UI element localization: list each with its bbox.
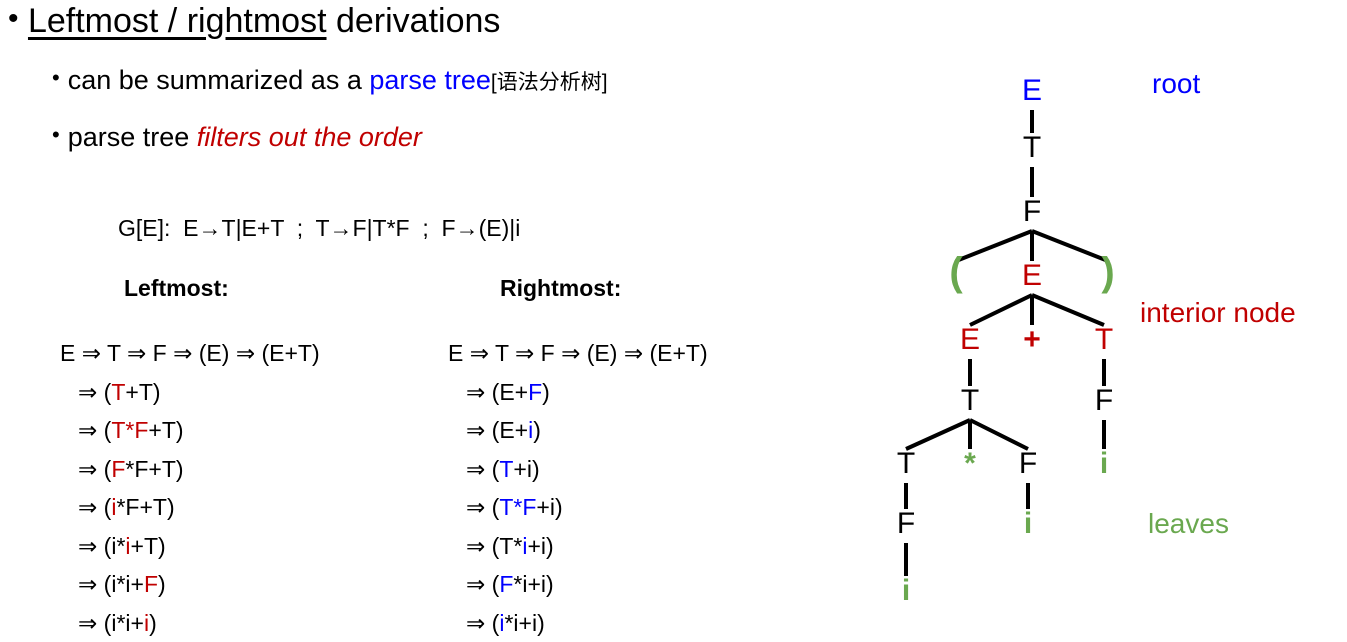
bullet-dot-icon: • [8, 2, 19, 35]
tree-node-label: T [1095, 323, 1113, 356]
tree-node-label: T [961, 384, 979, 417]
derives-arrow-icon: ⇒ [78, 533, 104, 559]
tree-edge [906, 420, 970, 449]
tree-node-label: i [1100, 447, 1108, 480]
derivation-prefix: (E+ [492, 417, 528, 443]
derivation-suffix: +i) [527, 533, 553, 559]
derivation-row: ⇒ (T*F+T) [60, 411, 320, 450]
derivation-highlight: T*F [111, 417, 148, 443]
derivation-row: ⇒ (T+i) [448, 450, 708, 489]
derivation-suffix: *i+i) [504, 610, 544, 636]
derivation-prefix: (i*i+ [104, 571, 144, 597]
derivation-suffix: ) [149, 610, 157, 636]
derivation-prefix: (i*i+ [104, 610, 144, 636]
derivation-suffix: ) [533, 417, 541, 443]
tree-edge [970, 295, 1032, 325]
rightmost-derivation-list: E ⇒ T ⇒ F ⇒ (E) ⇒ (E+T)⇒ (E+F)⇒ (E+i)⇒ (… [448, 334, 708, 642]
derives-arrow-icon: ⇒ [466, 417, 492, 443]
derivation-highlight: T [499, 456, 513, 482]
tree-node-label: T [1023, 131, 1041, 164]
tree-edge [1032, 295, 1104, 325]
tree-node-label: ) [1101, 250, 1114, 294]
tree-node-label: F [897, 507, 915, 540]
sub-bullet-lead-text: parse tree [68, 122, 197, 152]
page-title-rest: derivations [327, 2, 501, 40]
derivation-suffix: +T) [131, 533, 166, 559]
tree-node-label: F [1019, 447, 1037, 480]
derivation-suffix: *F+T) [125, 456, 183, 482]
tree-node-label: F [1023, 195, 1041, 228]
derivation-highlight: F [144, 571, 158, 597]
bullet-dot-icon: • [52, 65, 60, 90]
derivation-row: ⇒ (T*F+i) [448, 488, 708, 527]
derivation-suffix: ) [158, 571, 166, 597]
derivation-suffix: +i) [513, 456, 539, 482]
sub-bullet-lead-text: can be summarized as a [68, 65, 370, 95]
derives-arrow-icon: ⇒ [78, 417, 104, 443]
derives-arrow-icon: ⇒ [466, 610, 492, 636]
tree-node-label: * [964, 447, 976, 480]
emphasis-text: filters out the order [197, 122, 422, 152]
derivation-row: ⇒ (F*F+T) [60, 450, 320, 489]
tree-edge [970, 420, 1028, 449]
derivation-suffix: *i+i) [513, 571, 553, 597]
derives-arrow-icon: ⇒ [466, 533, 492, 559]
derives-arrow-icon: ⇒ [78, 494, 104, 520]
tree-edge [956, 231, 1032, 261]
tree-node-label: + [1023, 323, 1041, 356]
derivation-row: ⇒ (E+i) [448, 411, 708, 450]
derives-arrow-icon: ⇒ [466, 571, 492, 597]
tree-edges [906, 110, 1108, 576]
tree-node-label: ( [949, 250, 963, 294]
derives-arrow-icon: ⇒ [466, 379, 492, 405]
derives-arrow-icon: ⇒ [78, 610, 104, 636]
derivation-suffix: ) [542, 379, 550, 405]
derivation-highlight: F [528, 379, 542, 405]
annotation-leaves: leaves [1148, 508, 1229, 540]
tree-node-label: E [1022, 74, 1042, 107]
tree-edge [1032, 231, 1108, 261]
cjk-gloss: [语法分析树] [491, 71, 608, 94]
derivation-row: ⇒ (E+F) [448, 373, 708, 412]
derivation-row: ⇒ (i*i+i) [60, 604, 320, 642]
derivation-highlight: F [111, 456, 125, 482]
derivation-suffix: +i) [536, 494, 562, 520]
derivation-row: ⇒ (T+T) [60, 373, 320, 412]
page-title-underlined: Leftmost / rightmost [28, 2, 327, 40]
derives-arrow-icon: ⇒ [78, 379, 104, 405]
derivation-row: E ⇒ T ⇒ F ⇒ (E) ⇒ (E+T) [60, 334, 320, 373]
tree-node-label: i [1024, 507, 1032, 540]
derivation-highlight: F [499, 571, 513, 597]
tree-nodes: ETF(E)E+TTFT*FiFii [897, 74, 1115, 607]
derivation-suffix: *F+T) [116, 494, 174, 520]
derivation-prefix: (T* [492, 533, 523, 559]
derivation-highlight: T [111, 379, 125, 405]
derivation-row: E ⇒ T ⇒ F ⇒ (E) ⇒ (E+T) [448, 334, 708, 373]
bullet-dot-icon: • [52, 122, 60, 147]
rightmost-heading: Rightmost: [500, 275, 621, 302]
leftmost-heading: Leftmost: [124, 275, 229, 302]
derivation-row: ⇒ (F*i+i) [448, 565, 708, 604]
derivation-suffix: +T) [148, 417, 183, 443]
derivation-row: ⇒ (i*i+i) [448, 604, 708, 642]
tree-node-label: F [1095, 384, 1113, 417]
parse-tree-diagram: ETF(E)E+TTFT*FiFii [860, 55, 1160, 635]
annotation-root: root [1152, 68, 1200, 100]
tree-node-label: i [902, 574, 910, 607]
sub-bullet-filters-order: •parse tree filters out the order [52, 123, 422, 153]
derivation-highlight: T*F [499, 494, 536, 520]
tree-node-label: E [1022, 259, 1042, 292]
derivation-prefix: (E+ [492, 379, 528, 405]
parse-tree-highlight: parse tree [369, 65, 491, 95]
grammar-definition: G[E]: E→T|E+T ; T→F|T*F ; F→(E)|i [118, 215, 520, 242]
title-bullet-line: • Leftmost / rightmost derivations [8, 2, 500, 40]
derivation-row: ⇒ (i*F+T) [60, 488, 320, 527]
derives-arrow-icon: ⇒ [466, 494, 492, 520]
derivation-suffix: +T) [125, 379, 160, 405]
derivation-prefix: (i* [104, 533, 126, 559]
tree-node-label: T [897, 447, 915, 480]
derivation-row: ⇒ (i*i+T) [60, 527, 320, 566]
derives-arrow-icon: ⇒ [78, 456, 104, 482]
derives-arrow-icon: ⇒ [466, 456, 492, 482]
derivation-row: ⇒ (T*i+i) [448, 527, 708, 566]
leftmost-derivation-list: E ⇒ T ⇒ F ⇒ (E) ⇒ (E+T)⇒ (T+T)⇒ (T*F+T)⇒… [60, 334, 320, 642]
derivation-row: ⇒ (i*i+F) [60, 565, 320, 604]
derives-arrow-icon: ⇒ [78, 571, 104, 597]
annotation-interior: interior node [1140, 297, 1296, 329]
tree-node-label: E [960, 323, 980, 356]
sub-bullet-parse-tree: •can be summarized as a parse tree[语法分析树… [52, 66, 608, 96]
